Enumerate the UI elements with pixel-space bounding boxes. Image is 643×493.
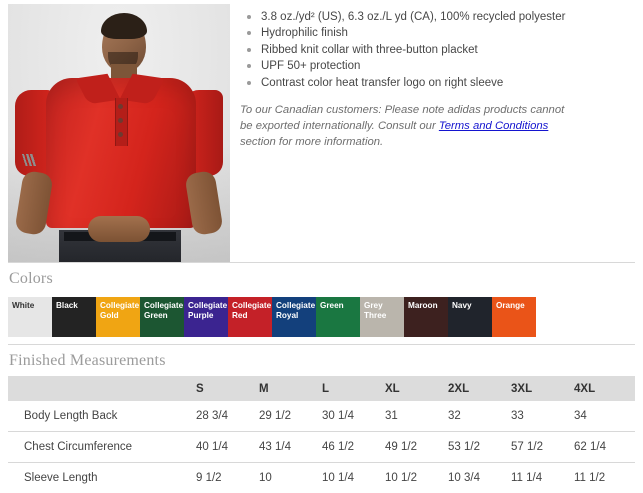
spec-item-label: 3.8 oz./yd² (US), 6.3 oz./L yd (CA), 100… (261, 11, 565, 23)
measurement-cell: 53 1/2 (446, 432, 509, 463)
divider-above-measurements (8, 344, 635, 345)
color-swatch[interactable]: Collegiate Purple (184, 297, 228, 337)
measurement-cell: 9 1/2 (194, 463, 257, 493)
measurement-cell: 10 1/4 (320, 463, 383, 493)
measurement-row-label: Body Length Back (8, 401, 194, 432)
canadian-customers-note: To our Canadian customers: Please note a… (240, 102, 570, 151)
spec-item: UPF 50+ protection (240, 58, 633, 74)
bullet-icon (247, 81, 251, 85)
colors-heading: Colors (9, 270, 643, 288)
measurement-cell: 10 (257, 463, 320, 493)
note-text-after: section for more information. (240, 136, 383, 148)
color-swatch[interactable]: Orange (492, 297, 536, 337)
measurement-cell: 11 1/2 (572, 463, 635, 493)
color-swatch-label: Navy (452, 301, 472, 310)
bullet-icon (247, 31, 251, 35)
color-swatch-list: WhiteBlackCollegiate GoldCollegiate Gree… (8, 297, 536, 337)
spec-item: Ribbed knit collar with three-button pla… (240, 42, 633, 58)
measurement-cell: 10 1/2 (383, 463, 446, 493)
color-swatch[interactable]: Green (316, 297, 360, 337)
model-photo (8, 4, 230, 262)
measurement-row-label: Chest Circumference (8, 432, 194, 463)
adidas-logo-icon (21, 154, 37, 166)
table-col-header-L: L (320, 376, 383, 401)
color-swatch-label: Maroon (408, 301, 438, 310)
measurement-cell: 32 (446, 401, 509, 432)
table-col-header-2XL: 2XL (446, 376, 509, 401)
table-col-header-4XL: 4XL (572, 376, 635, 401)
spec-list: 3.8 oz./yd² (US), 6.3 oz./L yd (CA), 100… (240, 9, 633, 91)
color-swatch-label: Grey Three (364, 301, 386, 320)
color-swatch-label: Collegiate Green (144, 301, 183, 320)
measurement-cell: 11 1/4 (509, 463, 572, 493)
color-swatch-label: Black (56, 301, 78, 310)
color-swatch-label: White (12, 301, 34, 310)
spec-item: Hydrophilic finish (240, 25, 633, 41)
spec-item-label: Ribbed knit collar with three-button pla… (261, 44, 478, 56)
measurement-cell: 33 (509, 401, 572, 432)
color-swatch[interactable]: Collegiate Red (228, 297, 272, 337)
color-swatch-label: Collegiate Gold (100, 301, 139, 320)
table-row: Sleeve Length9 1/21010 1/410 1/210 3/411… (8, 463, 635, 493)
color-swatch[interactable]: Black (52, 297, 96, 337)
table-body: Body Length Back28 3/429 1/230 1/4313233… (8, 401, 635, 493)
table-header: SMLXL2XL3XL4XL (8, 376, 635, 401)
finished-measurements-table: SMLXL2XL3XL4XL Body Length Back28 3/429 … (8, 376, 635, 493)
measurement-cell: 30 1/4 (320, 401, 383, 432)
spec-item-label: Contrast color heat transfer logo on rig… (261, 77, 503, 89)
color-swatch-label: Collegiate Red (232, 301, 271, 320)
table-header-row: SMLXL2XL3XL4XL (8, 376, 635, 401)
measurement-cell: 43 1/4 (257, 432, 320, 463)
bullet-icon (247, 64, 251, 68)
polo-button-1 (118, 104, 123, 109)
table-row: Chest Circumference40 1/443 1/446 1/249 … (8, 432, 635, 463)
measurement-cell: 34 (572, 401, 635, 432)
product-overview: 3.8 oz./yd² (US), 6.3 oz./L yd (CA), 100… (0, 0, 643, 262)
spec-item-label: UPF 50+ protection (261, 60, 360, 72)
model-hair (101, 13, 147, 39)
color-swatch[interactable]: Maroon (404, 297, 448, 337)
bullet-icon (247, 15, 251, 19)
color-swatch[interactable]: Collegiate Gold (96, 297, 140, 337)
spec-item: Contrast color heat transfer logo on rig… (240, 75, 633, 91)
color-swatch[interactable]: Grey Three (360, 297, 404, 337)
measurement-cell: 28 3/4 (194, 401, 257, 432)
product-details: 3.8 oz./yd² (US), 6.3 oz./L yd (CA), 100… (230, 0, 643, 162)
color-swatch[interactable]: Collegiate Royal (272, 297, 316, 337)
measurement-cell: 57 1/2 (509, 432, 572, 463)
bullet-icon (247, 48, 251, 52)
table-col-header-blank (8, 376, 194, 401)
measurement-row-label: Sleeve Length (8, 463, 194, 493)
measurement-cell: 62 1/4 (572, 432, 635, 463)
table-col-header-M: M (257, 376, 320, 401)
model-hands (88, 216, 150, 242)
spec-item-label: Hydrophilic finish (261, 27, 348, 39)
measurement-cell: 49 1/2 (383, 432, 446, 463)
measurements-heading: Finished Measurements (9, 352, 643, 370)
color-swatch-label: Orange (496, 301, 525, 310)
measurements-table-wrap: SMLXL2XL3XL4XL Body Length Back28 3/429 … (8, 376, 635, 493)
divider-above-colors (8, 262, 635, 263)
measurement-cell: 10 3/4 (446, 463, 509, 493)
terms-and-conditions-link[interactable]: Terms and Conditions (439, 120, 548, 132)
table-row: Body Length Back28 3/429 1/230 1/4313233… (8, 401, 635, 432)
spec-item: 3.8 oz./yd² (US), 6.3 oz./L yd (CA), 100… (240, 9, 633, 25)
measurement-cell: 31 (383, 401, 446, 432)
table-col-header-XL: XL (383, 376, 446, 401)
color-swatch[interactable]: Navy (448, 297, 492, 337)
polo-button-3 (118, 132, 123, 137)
measurement-cell: 40 1/4 (194, 432, 257, 463)
measurement-cell: 46 1/2 (320, 432, 383, 463)
color-swatch[interactable]: White (8, 297, 52, 337)
color-swatch-label: Green (320, 301, 344, 310)
measurement-cell: 29 1/2 (257, 401, 320, 432)
table-col-header-S: S (194, 376, 257, 401)
color-swatch-label: Collegiate Purple (188, 301, 227, 320)
polo-button-2 (118, 118, 123, 123)
product-image[interactable] (8, 4, 230, 262)
table-col-header-3XL: 3XL (509, 376, 572, 401)
color-swatch[interactable]: Collegiate Green (140, 297, 184, 337)
color-swatch-label: Collegiate Royal (276, 301, 315, 320)
